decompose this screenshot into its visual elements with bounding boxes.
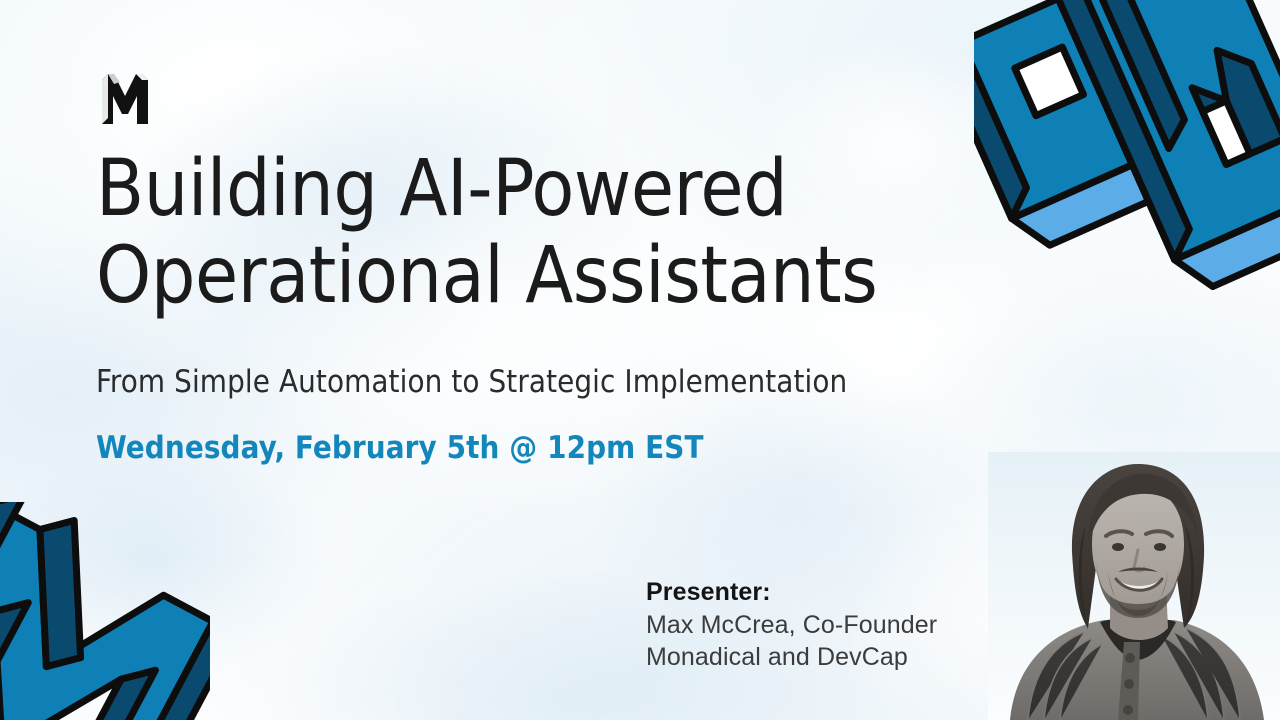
presenter-headshot-photo [988, 452, 1280, 720]
webinar-title-slide: Building AI-Powered Operational Assistan… [0, 0, 1280, 720]
presenter-name-role: Max McCrea, Co-Founder [646, 609, 937, 642]
presenter-label: Presenter: [646, 576, 937, 609]
3d-m-monogram-bottom-left-icon [0, 502, 210, 720]
presenter-organizations: Monadical and DevCap [646, 641, 937, 674]
page-subtitle: From Simple Automation to Strategic Impl… [96, 364, 847, 400]
presenter-block: Presenter: Max McCrea, Co-Founder Monadi… [646, 576, 937, 674]
3d-m-monogram-top-right-icon [974, 0, 1280, 322]
event-datetime: Wednesday, February 5th @ 12pm EST [96, 430, 704, 466]
page-title: Building AI-Powered Operational Assistan… [96, 146, 956, 321]
monadical-m-monogram-icon [96, 70, 154, 132]
